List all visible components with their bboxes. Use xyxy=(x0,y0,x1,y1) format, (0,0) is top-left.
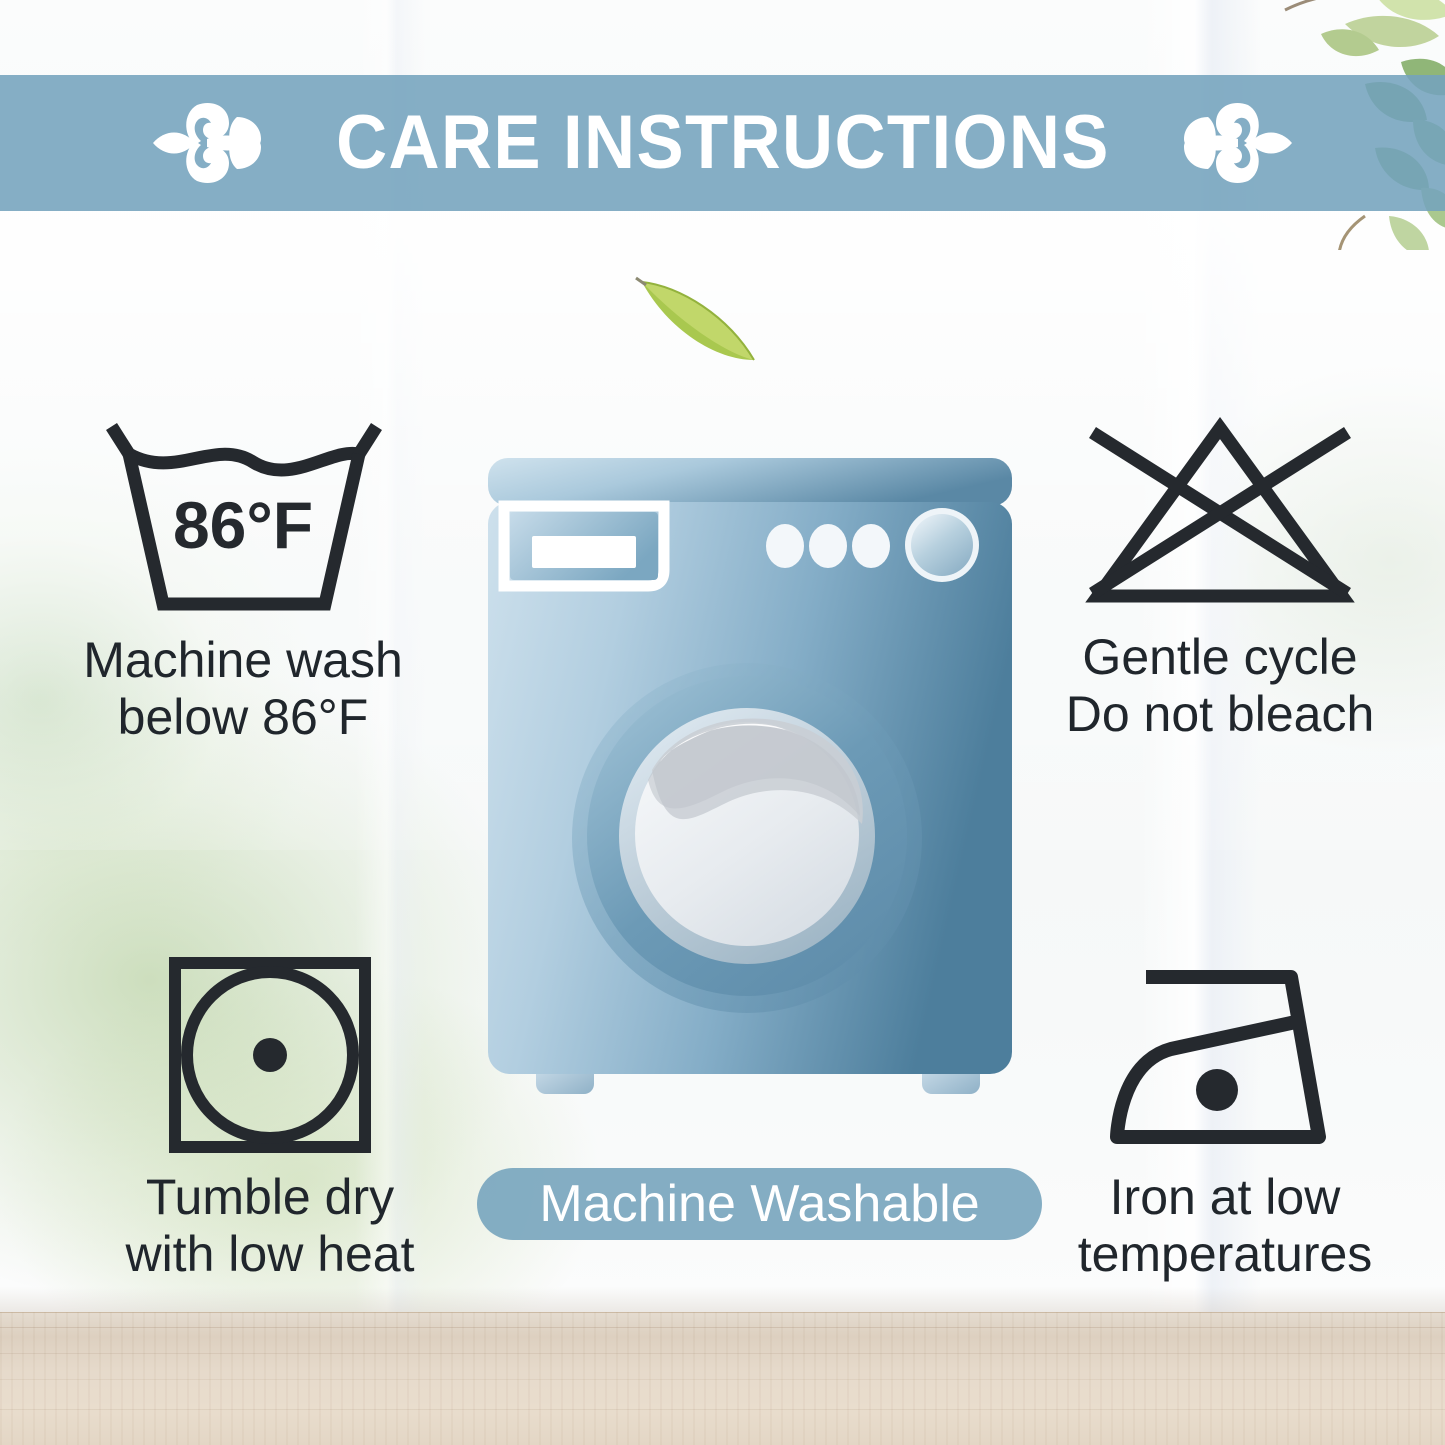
machine-washable-badge: Machine Washable xyxy=(477,1168,1042,1240)
fleur-de-lis-icon-right xyxy=(1172,95,1296,191)
falling-leaf-icon xyxy=(632,268,772,373)
control-button-3[interactable] xyxy=(852,524,890,568)
care-instructions-infographic: CARE INSTRUCTIONS 86°F Machine wash belo… xyxy=(0,0,1445,1445)
care-item-iron-caption: Iron at low temperatures xyxy=(1078,1169,1373,1283)
care-item-do-not-bleach-caption: Gentle cycle Do not bleach xyxy=(1066,629,1375,743)
fleur-de-lis-icon-left xyxy=(149,95,273,191)
dry-heat-dot xyxy=(253,1038,287,1072)
care-item-machine-wash: 86°F Machine wash below 86°F xyxy=(28,418,458,746)
control-button-1[interactable] xyxy=(766,524,804,568)
care-item-do-not-bleach: Gentle cycle Do not bleach xyxy=(1005,410,1435,743)
care-item-machine-wash-caption: Machine wash below 86°F xyxy=(83,632,403,746)
do-not-bleach-triangle-icon xyxy=(1070,410,1370,615)
table-edge-shadow xyxy=(0,1287,1445,1313)
detergent-drawer xyxy=(504,506,664,586)
wood-table-surface xyxy=(0,1312,1445,1445)
care-item-tumble-dry: Tumble dry with low heat xyxy=(55,955,485,1283)
control-button-2[interactable] xyxy=(809,524,847,568)
washer-door[interactable] xyxy=(572,663,922,1013)
tumble-dry-low-icon xyxy=(165,955,375,1155)
iron-heat-dot xyxy=(1196,1069,1238,1111)
washer-top-panel xyxy=(488,458,1012,506)
care-item-iron: Iron at low temperatures xyxy=(1010,955,1440,1283)
washing-machine-illustration xyxy=(470,440,1030,1130)
washer-control-buttons[interactable] xyxy=(766,524,890,568)
care-item-tumble-dry-caption: Tumble dry with low heat xyxy=(125,1169,414,1283)
wash-temperature-label: 86°F xyxy=(173,488,313,562)
banner: CARE INSTRUCTIONS xyxy=(0,75,1445,211)
washer-control-knob[interactable] xyxy=(905,508,979,582)
machine-washable-badge-label: Machine Washable xyxy=(539,1178,979,1230)
iron-low-temp-icon xyxy=(1095,955,1355,1155)
wash-tub-icon: 86°F xyxy=(93,418,393,618)
banner-title: CARE INSTRUCTIONS xyxy=(336,105,1110,181)
